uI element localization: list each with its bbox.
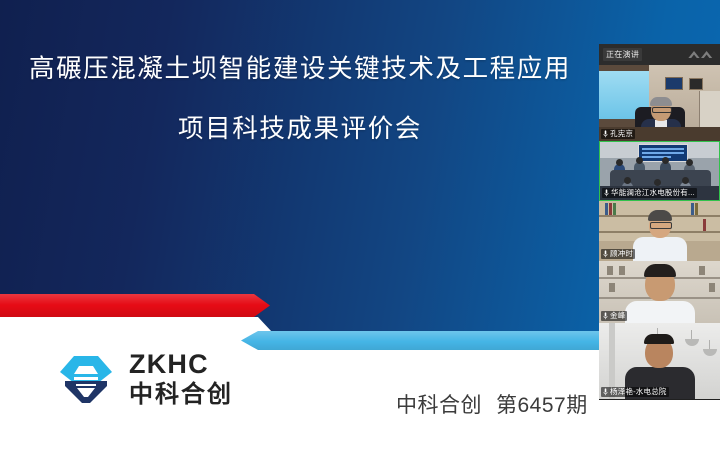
person-hair — [648, 210, 672, 221]
book-shape — [605, 203, 608, 215]
shelf-item — [699, 266, 705, 275]
participant-name: 金峰 — [610, 311, 625, 321]
participant-name-badge: 华能澜沧江水电股份有... — [602, 188, 697, 198]
microphone-icon — [603, 130, 608, 138]
presentation-screen: 高碾压混凝土坝智能建设关键技术及工程应用 项目科技成果评价会 ZKHC — [0, 0, 720, 454]
shelf-item — [619, 266, 625, 275]
footer-org-name: 中科合创 — [396, 394, 482, 417]
shelf-item — [709, 283, 715, 292]
video-conference-panel[interactable]: 正在演讲 — [599, 44, 720, 400]
glasses-icon — [650, 222, 672, 229]
participant-name-badge: 顾冲时 — [601, 249, 635, 259]
red-arrow-ribbon — [0, 294, 270, 317]
microphone-icon — [603, 250, 608, 258]
slide-title-block: 高碾压混凝土坝智能建设关键技术及工程应用 项目科技成果评价会 — [0, 56, 600, 143]
picture-frame-icon — [689, 78, 703, 90]
footer-session-number: 第6457期 — [496, 394, 588, 417]
participant-name-badge: 金峰 — [601, 311, 627, 321]
zkhc-logo: ZKHC 中科合创 — [57, 350, 233, 408]
microphone-icon — [603, 312, 608, 320]
video-tile[interactable]: 孔宪京 — [599, 65, 720, 141]
zkhc-logo-mark — [57, 350, 115, 408]
microphone-icon — [603, 388, 608, 396]
person-body — [625, 301, 695, 323]
person-hair — [644, 264, 676, 277]
participant-name: 华能澜沧江水电股份有... — [611, 188, 695, 198]
book-shape — [613, 203, 616, 215]
page-subtitle: 项目科技成果评价会 — [0, 116, 600, 143]
picture-frame-icon — [665, 77, 683, 90]
book-shape — [691, 203, 694, 215]
book-shape — [609, 203, 612, 215]
video-panel-header: 正在演讲 — [599, 44, 720, 65]
microphone-icon — [604, 189, 609, 197]
footer-caption: 中科合创第6457期 — [396, 389, 588, 419]
speaking-status-label: 正在演讲 — [603, 48, 642, 61]
person-hair — [650, 97, 672, 106]
meeting-app-logo-icon — [687, 49, 715, 60]
zkhc-logo-text: ZKHC 中科合创 — [129, 351, 233, 407]
book-shape — [703, 219, 706, 231]
participant-name: 杨泽艳-水电总院 — [610, 387, 667, 397]
zkhc-logo-chinese: 中科合创 — [129, 383, 233, 407]
ribbon-notch-left — [0, 317, 258, 331]
video-tile[interactable]: 顾冲时 — [599, 201, 720, 261]
shelf-item — [607, 266, 613, 275]
video-tile[interactable]: 金峰 — [599, 261, 720, 323]
book-shape — [695, 203, 698, 215]
person-body — [633, 237, 687, 261]
participant-name-badge: 杨泽艳-水电总院 — [601, 387, 669, 397]
person-hair — [644, 334, 674, 344]
video-tile-active-speaker[interactable]: 华能澜沧江水电股份有... — [599, 141, 720, 201]
participant-name: 孔宪京 — [610, 129, 633, 139]
video-tile[interactable]: 杨泽艳-水电总院 — [599, 323, 720, 399]
participant-name: 顾冲时 — [610, 249, 633, 259]
shelf-item — [609, 283, 615, 292]
glasses-icon — [652, 107, 672, 113]
cabinet-shape — [699, 91, 720, 131]
participant-name-badge: 孔宪京 — [601, 129, 635, 139]
zkhc-logo-latin: ZKHC — [129, 351, 233, 378]
page-title: 高碾压混凝土坝智能建设关键技术及工程应用 — [0, 56, 600, 83]
